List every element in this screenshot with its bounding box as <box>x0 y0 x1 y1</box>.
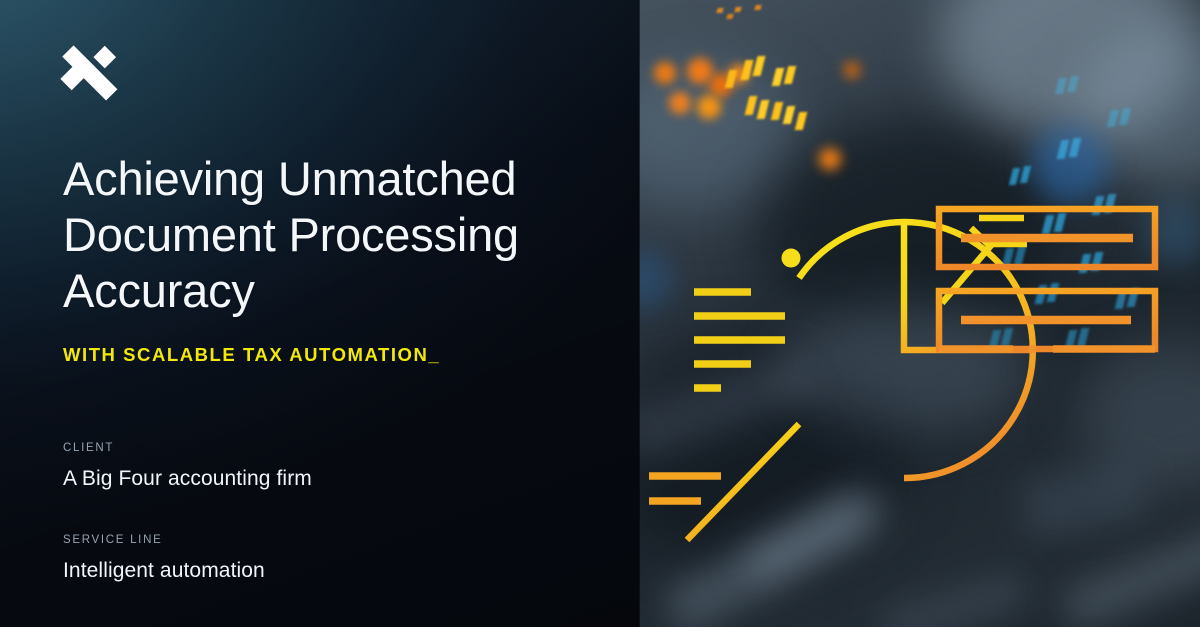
left-content-panel: Achieving Unmatched Document Processing … <box>0 0 639 627</box>
meta-label-service-line: Service line <box>63 534 639 546</box>
right-image-panel <box>639 0 1200 627</box>
meta-value-service-line: Intelligent automation <box>63 559 639 583</box>
page-title: Achieving Unmatched Document Processing … <box>63 151 603 319</box>
chart-dot <box>782 249 801 268</box>
case-study-card: Achieving Unmatched Document Processing … <box>0 0 1200 627</box>
meta-value-client: A Big Four accounting firm <box>63 467 639 491</box>
page-subtitle: With scalable tax automation_ <box>63 344 639 366</box>
meta-label-client: Client <box>63 442 639 454</box>
panel-divider-line <box>639 0 640 627</box>
x-mark-logo[interactable] <box>63 47 117 99</box>
meta-item-client: Client A Big Four accounting firm <box>63 442 639 491</box>
logo-diamond-accent <box>94 46 116 68</box>
meta-item-service-line: Service line Intelligent automation <box>63 534 639 583</box>
document-analytics-illustration <box>639 0 1200 627</box>
meta-list: Client A Big Four accounting firm Servic… <box>63 442 639 583</box>
